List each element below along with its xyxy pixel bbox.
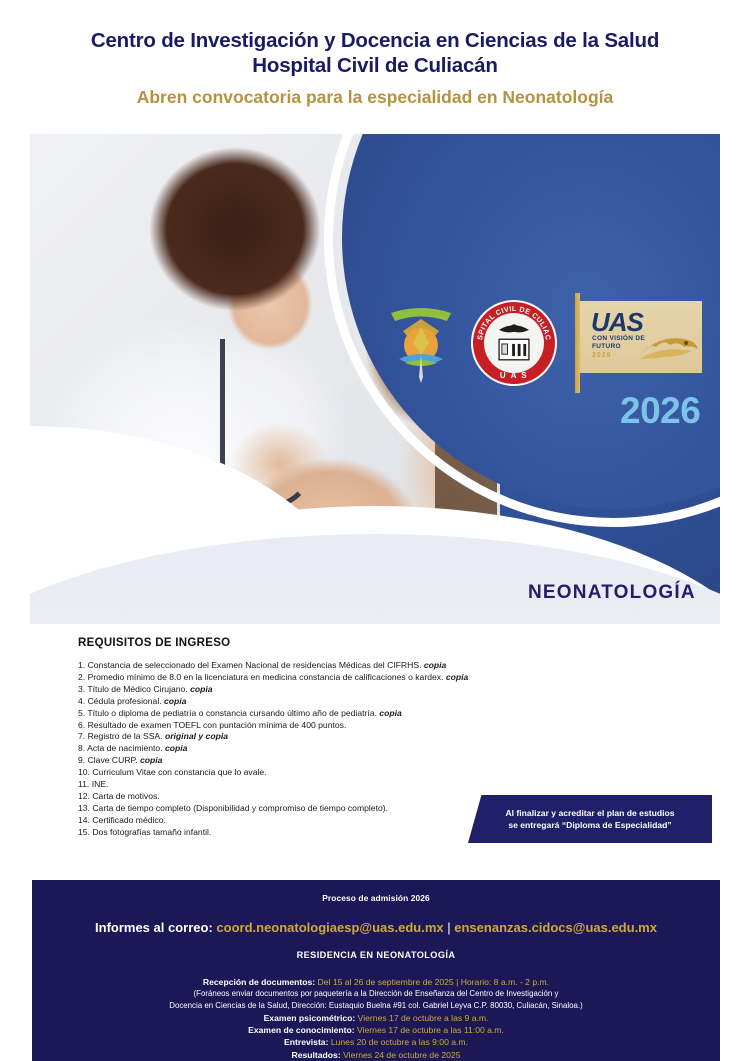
footer-psicometrico-label: Examen psicométrico:	[264, 1013, 356, 1023]
requirement-number: 2.	[78, 672, 88, 682]
requirement-number: 3.	[78, 684, 87, 694]
requirement-text: Acta de nacimiento.	[87, 743, 162, 753]
requirement-number: 9.	[78, 755, 88, 765]
uas-tagline: CON VISIÓN DE FUTURO	[592, 335, 645, 351]
hospital-civil-seal-icon: HOSPITAL CIVIL DE CULIACÁN U A S	[471, 300, 557, 386]
requirement-text: Carta de motivos.	[92, 791, 159, 801]
footer-entrevista-row: Entrevista: Lunes 20 de octubre a las 9:…	[32, 1036, 720, 1048]
footer-reception-row: Recepción de documentos: Del 15 al 26 de…	[32, 976, 720, 988]
footer-conocimiento-label: Examen de conocimiento:	[248, 1025, 355, 1035]
requirement-emphasis: copia	[138, 755, 163, 765]
requirement-emphasis: copia	[163, 743, 188, 753]
footer-entrevista-label: Entrevista:	[284, 1037, 328, 1047]
footer-note-line2: Docencia en Ciencias de la Salud, Direcc…	[32, 1000, 720, 1012]
uas-tagline-line2: FUTURO	[592, 343, 645, 351]
poster-header: Centro de Investigación y Docencia en Ci…	[0, 0, 750, 128]
requirement-text: Promedio mínimo de 8.0 en la licenciatur…	[88, 672, 444, 682]
requirement-text: Clave CURP.	[88, 755, 138, 765]
requirement-item: 3. Título de Médico Cirujano. copia	[78, 684, 548, 696]
requirement-text: Registro de la SSA.	[88, 731, 163, 741]
footer-process: Proceso de admisión 2026	[32, 893, 720, 903]
hero-banner: HOSPITAL CIVIL DE CULIACÁN U A S	[30, 134, 720, 624]
svg-text:HOSPITAL CIVIL DE CULIACÁN: HOSPITAL CIVIL DE CULIACÁN	[471, 300, 553, 341]
requirement-item: 1. Constancia de seleccionado del Examen…	[78, 660, 548, 672]
requirement-text: Cédula profesional.	[88, 696, 162, 706]
header-title-line-1: Centro de Investigación y Docencia en Ci…	[91, 28, 659, 53]
footer-resultados-label: Resultados:	[292, 1050, 341, 1060]
footer-note-line1: (Foráneos enviar documentos por paqueter…	[32, 988, 720, 1000]
footer-email-2[interactable]: ensenanzas.cidocs@uas.edu.mx	[454, 920, 657, 935]
hero-year: 2026	[620, 390, 700, 432]
requirement-number: 4.	[78, 696, 88, 706]
footer-psicometrico-row: Examen psicométrico: Viernes 17 de octub…	[32, 1012, 720, 1024]
requirement-emphasis: copia	[162, 696, 187, 706]
requirement-number: 1.	[78, 660, 88, 670]
requirement-number: 5.	[78, 708, 87, 718]
requirements-section: REQUISITOS DE INGRESO 1. Constancia de s…	[78, 637, 548, 839]
footer-resultados-row: Resultados: Viernes 24 de octubre de 202…	[32, 1049, 720, 1061]
requirement-text: Resultado de examen TOEFL con puntación …	[88, 720, 347, 730]
requirement-text: Certificado médico.	[92, 815, 166, 825]
footer-conocimiento-row: Examen de conocimiento: Viernes 17 de oc…	[32, 1024, 720, 1036]
requirement-number: 13.	[78, 803, 92, 813]
footer-reception-value: Del 15 al 26 de septiembre de 2025 | Hor…	[318, 977, 550, 987]
requirement-text: INE.	[92, 779, 109, 789]
requirement-text: Carta de tiempo completo (Disponibilidad…	[92, 803, 388, 813]
requirement-text: Dos fotografías tamaño infantil.	[92, 827, 211, 837]
footer-email-1[interactable]: coord.neonatologiaesp@uas.edu.mx	[216, 920, 443, 935]
requirement-text: Curriculum Vitae con constancia que lo a…	[92, 767, 266, 777]
requirement-text: Título de Médico Cirujano.	[87, 684, 187, 694]
requirement-number: 8.	[78, 743, 87, 753]
sinaloa-seal-icon	[385, 297, 457, 389]
requirement-text: Título o diploma de pediatría o constanc…	[87, 708, 377, 718]
uas-wordmark: UAS	[591, 307, 643, 338]
footer-resultados-value: Viernes 24 de octubre de 2025	[343, 1050, 460, 1060]
requirement-item: 12. Carta de motivos.	[78, 791, 548, 803]
requirement-emphasis: copia	[377, 708, 402, 718]
hospital-seal-uas-text: U A S	[471, 371, 557, 380]
footer-mail-label: Informes al correo:	[95, 920, 213, 935]
requirement-item: 6. Resultado de examen TOEFL con puntaci…	[78, 720, 548, 732]
requirement-number: 11.	[78, 779, 92, 789]
requirement-number: 14.	[78, 815, 92, 825]
footer-residency: RESIDENCIA EN NEONATOLOGÍA	[32, 950, 720, 960]
requirement-item: 2. Promedio mínimo de 8.0 en la licencia…	[78, 672, 548, 684]
poster-footer: Proceso de admisión 2026 Informes al cor…	[32, 880, 720, 1061]
diploma-badge-line2: se entregará “Diploma de Especialidad”	[508, 819, 671, 831]
footer-schedule: Recepción de documentos: Del 15 al 26 de…	[32, 976, 720, 1061]
requirement-item: 11. INE.	[78, 779, 548, 791]
footer-contact-line: Informes al correo: coord.neonatologiaes…	[32, 920, 720, 935]
requirement-item: 7. Registro de la SSA. original y copia	[78, 731, 548, 743]
logo-row: HOSPITAL CIVIL DE CULIACÁN U A S	[385, 290, 720, 395]
footer-conocimiento-value: Viernes 17 de octubre a las 11:00 a.m.	[357, 1025, 504, 1035]
requirement-number: 7.	[78, 731, 88, 741]
requirement-emphasis: copia	[421, 660, 446, 670]
footer-reception-label: Recepción de documentos:	[203, 977, 315, 987]
requirement-text: Constancia de seleccionado del Examen Na…	[88, 660, 422, 670]
footer-psicometrico-value: Viernes 17 de octubre a las 9 a.m.	[358, 1013, 489, 1023]
requirement-emphasis: original y copia	[163, 731, 228, 741]
header-subtitle: Abren convocatoria para la especialidad …	[137, 85, 614, 109]
requirement-emphasis: copia	[443, 672, 468, 682]
requirement-item: 10. Curriculum Vitae con constancia que …	[78, 767, 548, 779]
requirement-item: 5. Título o diploma de pediatría o const…	[78, 708, 548, 720]
uas-vision-year: 2029	[592, 352, 612, 359]
requirement-item: 4. Cédula profesional. copia	[78, 696, 548, 708]
requirement-number: 10.	[78, 767, 92, 777]
uas-tagline-line1: CON VISIÓN DE	[592, 335, 645, 343]
requirement-number: 6.	[78, 720, 88, 730]
requirements-heading: REQUISITOS DE INGRESO	[78, 637, 548, 649]
specialty-label: NEONATOLOGÍA	[528, 582, 696, 604]
uas-flag-logo: UAS CON VISIÓN DE FUTURO 2029	[571, 293, 703, 393]
footer-entrevista-value: Lunes 20 de octubre a las 9:00 a.m.	[331, 1037, 468, 1047]
requirement-emphasis: copia	[188, 684, 213, 694]
poster-root: Centro de Investigación y Docencia en Ci…	[0, 0, 750, 1061]
requirement-number: 15.	[78, 827, 92, 837]
requirement-item: 8. Acta de nacimiento. copia	[78, 743, 548, 755]
footer-email-separator: |	[447, 920, 450, 935]
diploma-badge-line1: Al finalizar y acreditar el plan de estu…	[505, 807, 674, 819]
diploma-badge: Al finalizar y acreditar el plan de estu…	[468, 795, 712, 843]
requirement-number: 12.	[78, 791, 92, 801]
requirement-item: 9. Clave CURP. copia	[78, 755, 548, 767]
header-title-line-2: Hospital Civil de Culiacán	[252, 53, 497, 78]
